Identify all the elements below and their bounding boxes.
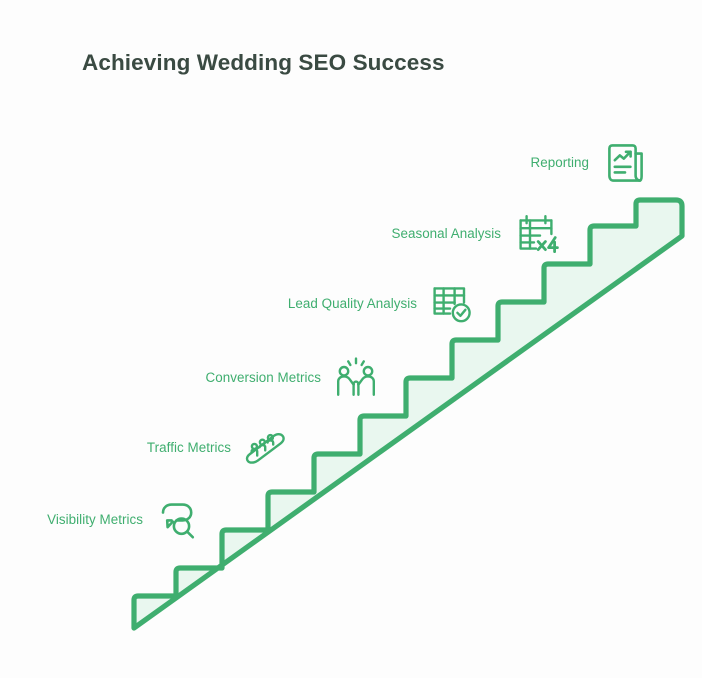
step-label-reporting: Reporting <box>530 156 589 169</box>
step-item-lead-quality-analysis[interactable]: Lead Quality Analysis <box>254 280 476 328</box>
step-item-visibility-metrics[interactable]: Visibility Metrics <box>12 496 202 544</box>
speech-bubble-magnifier-icon <box>154 496 202 544</box>
step-label-traffic-metrics: Traffic Metrics <box>147 441 231 454</box>
people-high-five-icon <box>332 354 380 402</box>
calendar-x4-icon <box>512 210 560 258</box>
step-item-conversion-metrics[interactable]: Conversion Metrics <box>180 354 380 402</box>
step-label-conversion-metrics: Conversion Metrics <box>206 371 322 384</box>
staircase-shape <box>134 200 682 628</box>
report-trend-document-icon <box>600 139 648 187</box>
staircase-illustration <box>0 0 702 678</box>
step-item-reporting[interactable]: Reporting <box>512 139 648 187</box>
staircase-path <box>134 200 682 628</box>
step-item-seasonal-analysis[interactable]: Seasonal Analysis <box>364 210 560 258</box>
step-item-traffic-metrics[interactable]: Traffic Metrics <box>118 424 290 472</box>
step-label-visibility-metrics: Visibility Metrics <box>47 513 143 526</box>
table-check-icon <box>428 280 476 328</box>
infographic-canvas: Achieving Wedding SEO Success Visibility… <box>0 0 702 678</box>
step-label-lead-quality-analysis: Lead Quality Analysis <box>288 297 417 310</box>
step-label-seasonal-analysis: Seasonal Analysis <box>391 227 501 240</box>
escalator-people-icon <box>242 424 290 472</box>
